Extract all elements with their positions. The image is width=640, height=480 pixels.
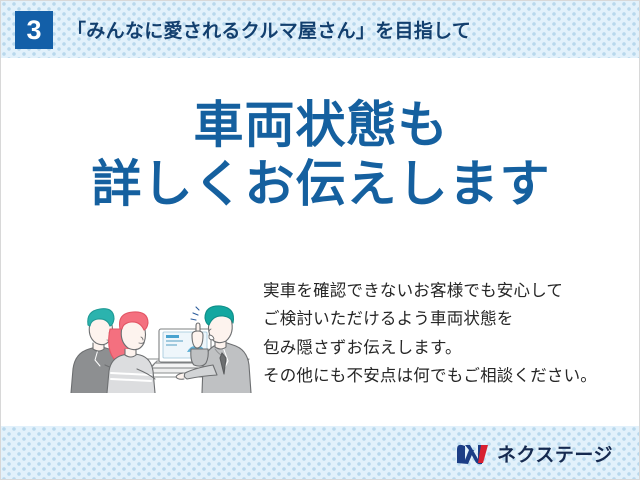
brand-lockup: ネクステージ xyxy=(456,440,613,467)
headline-line-1: 車両状態も xyxy=(1,96,640,155)
headline-line-2: 詳しくお伝えします xyxy=(1,155,640,214)
nextage-n-logo-icon xyxy=(456,442,490,466)
slide-header: 3 「みんなに愛されるクルマ屋さん」を目指して xyxy=(1,1,640,58)
slide-body: 車両状態も 詳しくお伝えします xyxy=(1,58,640,426)
body-paragraph: 実車を確認できないお客様でも安心して ご検討いただけるよう車両状態を 包み隠さず… xyxy=(263,277,607,391)
paragraph-line-4: その他にも不安点は何でもご相談ください。 xyxy=(263,362,607,390)
section-number-badge: 3 xyxy=(15,11,53,49)
brand-name: ネクステージ xyxy=(497,440,613,467)
headline: 車両状態も 詳しくお伝えします xyxy=(1,96,640,214)
slide-footer: ネクステージ xyxy=(1,426,640,480)
paragraph-line-1: 実車を確認できないお客様でも安心して xyxy=(263,277,607,305)
paragraph-line-2: ご検討いただけるよう車両状態を xyxy=(263,305,607,333)
page-title: 「みんなに愛されるクルマ屋さん」を目指して xyxy=(67,16,471,43)
paragraph-line-3: 包み隠さずお伝えします。 xyxy=(263,334,607,362)
consultation-illustration xyxy=(63,273,259,393)
consultation-illustration-svg xyxy=(63,273,259,393)
promotional-slide: 3 「みんなに愛されるクルマ屋さん」を目指して 車両状態も 詳しくお伝えします xyxy=(0,0,640,480)
content-row: 実車を確認できないお客様でも安心して ご検討いただけるよう車両状態を 包み隠さず… xyxy=(1,273,640,423)
